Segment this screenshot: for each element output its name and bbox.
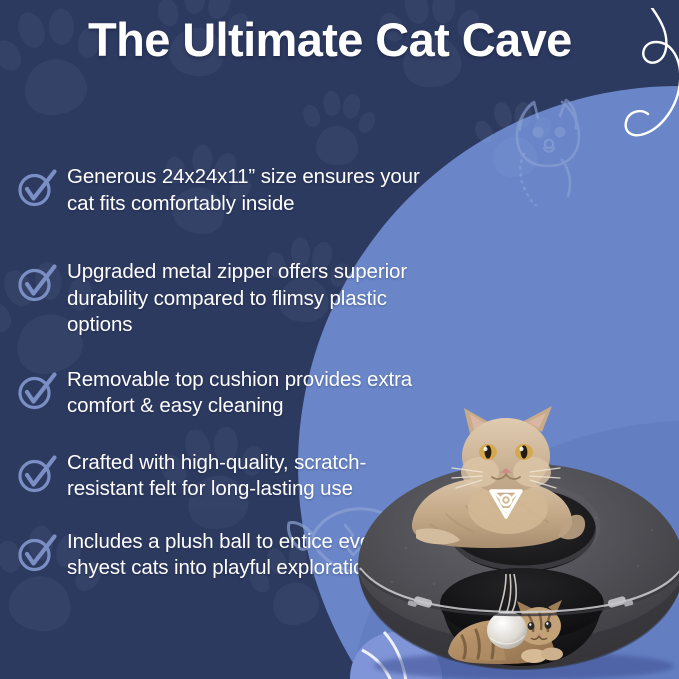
feature-text: Upgraded metal zipper offers superior du… — [67, 259, 437, 339]
cat-cave-infographic: The Ultimate Cat Cave Generous 24x24x11”… — [0, 0, 679, 679]
check-circle-icon — [16, 371, 58, 411]
check-circle-icon — [16, 168, 58, 208]
feature-item: Generous 24x24x11” size ensures your cat… — [0, 164, 440, 217]
feature-item: Upgraded metal zipper offers superior du… — [0, 259, 440, 339]
page-title: The Ultimate Cat Cave — [88, 12, 679, 68]
cat-face-outline-icon — [500, 96, 596, 206]
paw-print-icon — [298, 84, 378, 172]
check-circle-icon — [16, 454, 58, 494]
check-circle-icon — [16, 263, 58, 303]
feature-text: Generous 24x24x11” size ensures your cat… — [67, 164, 437, 217]
product-photo-cat-cave — [356, 398, 679, 679]
product-logo-badge-icon — [489, 487, 523, 519]
check-circle-icon — [16, 533, 58, 573]
